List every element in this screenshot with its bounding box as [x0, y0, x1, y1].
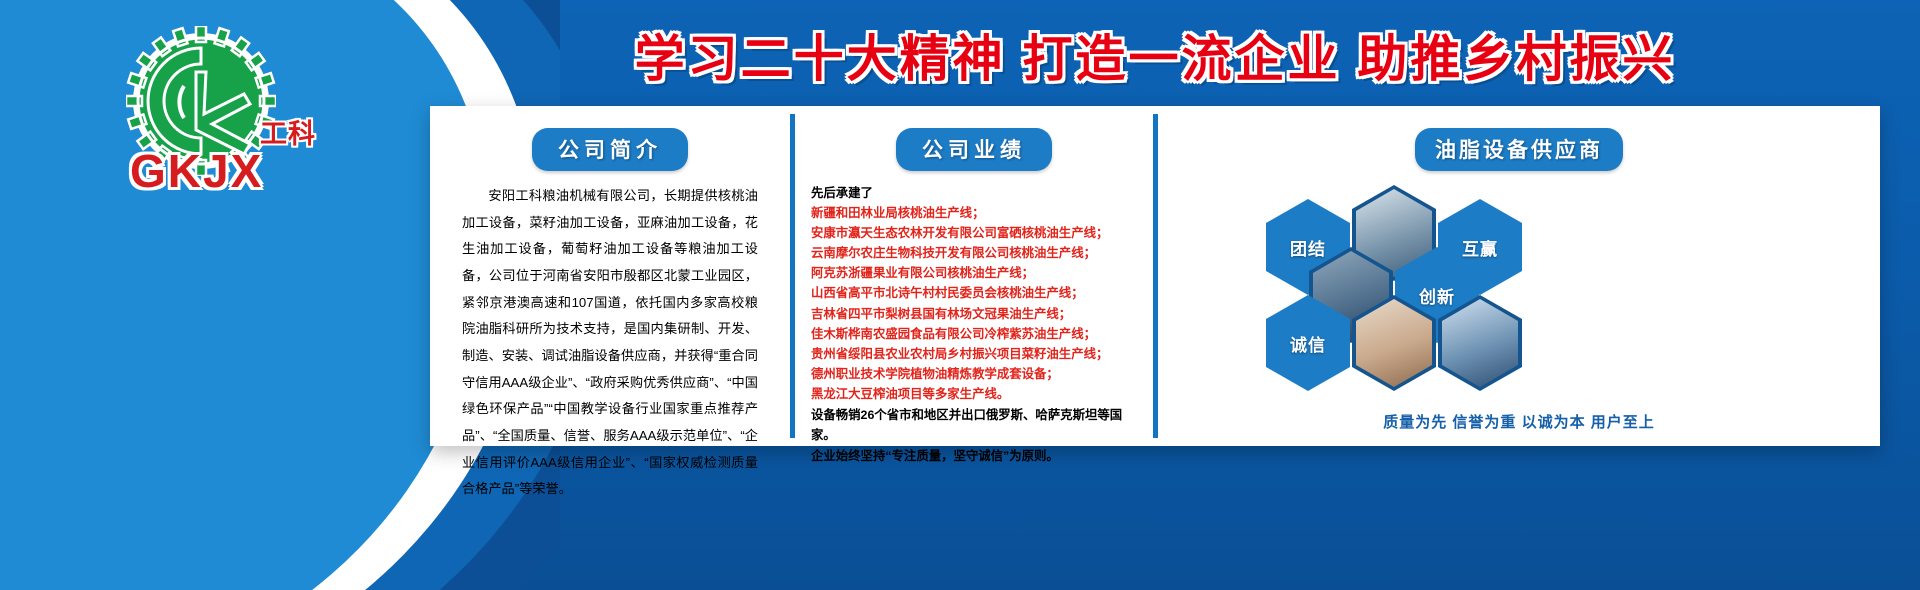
panel-title-supplier: 油脂设备供应商: [1415, 128, 1623, 171]
achievement-item: 佳木斯桦南农盛园食品有限公司冷榨紫苏油生产线；: [811, 324, 1137, 344]
achievements-intro: 先后承建了: [811, 183, 1137, 203]
poster-canvas: 工科 GKJX 学习二十大精神 打造一流企业 助推乡村振兴 公司简介 安阳工科粮…: [0, 0, 1920, 590]
company-logo: 工科 GKJX: [108, 26, 348, 206]
headline-text: 学习二十大精神 打造一流企业 助推乡村振兴: [635, 19, 1676, 91]
achievement-item: 贵州省绥阳县农业农村局乡村振兴项目菜籽油生产线；: [811, 344, 1137, 364]
achievement-item: 吉林省四平市梨树县国有林场文冠果油生产线；: [811, 304, 1137, 324]
achievement-item: 阿克苏浙疆果业有限公司核桃油生产线；: [811, 263, 1137, 283]
achievement-item: 新疆和田林业局核桃油生产线；: [811, 203, 1137, 223]
panel-supplier: 油脂设备供应商 团结互赢创新诚信 质量为先 信誉为重 以诚为本 用户至上: [1158, 106, 1880, 446]
logo-name-en: GKJX: [130, 144, 263, 198]
achievement-footer-line: 企业始终坚持“专注质量，坚守诚信”为原则。: [811, 446, 1137, 466]
achievement-item: 山西省高平市北诗午村村民委员会核桃油生产线；: [811, 283, 1137, 303]
achievement-footer-line: 设备畅销26个省市和地区并出口俄罗斯、哈萨克斯坦等国家。: [811, 405, 1137, 445]
hex-label: 团结: [1290, 235, 1326, 260]
panel-title-company-profile: 公司简介: [532, 128, 688, 171]
logo-name-cn: 工科: [260, 112, 316, 151]
hex-label: 创新: [1419, 283, 1455, 308]
company-profile-text: 安阳工科粮油机械有限公司，长期提供核桃油加工设备，菜籽油加工设备，亚麻油加工设备…: [462, 183, 758, 503]
panel-company-profile: 公司简介 安阳工科粮油机械有限公司，长期提供核桃油加工设备，菜籽油加工设备，亚麻…: [430, 106, 790, 446]
hex-inner: [1356, 299, 1432, 387]
poster-headline: 学习二十大精神 打造一流企业 助推乡村振兴: [430, 22, 1880, 88]
achievement-item: 德州职业技术学院植物油精炼教学成套设备；: [811, 364, 1137, 384]
panel-company-achievements: 公司业绩 先后承建了 新疆和田林业局核桃油生产线；安康市瀛天生态农林开发有限公司…: [795, 106, 1153, 446]
hex-cluster: 团结互赢创新诚信: [1174, 183, 1864, 398]
content-board: 公司简介 安阳工科粮油机械有限公司，长期提供核桃油加工设备，菜籽油加工设备，亚麻…: [430, 106, 1880, 446]
achievements-list: 新疆和田林业局核桃油生产线；安康市瀛天生态农林开发有限公司富硒核桃油生产线；云南…: [811, 203, 1137, 404]
hex-inner: [1442, 299, 1518, 387]
hex-label: 互赢: [1462, 235, 1498, 260]
achievement-item: 安康市瀛天生态农林开发有限公司富硒核桃油生产线；: [811, 223, 1137, 243]
panel-title-company-achievements: 公司业绩: [896, 128, 1052, 171]
achievement-item: 云南摩尔农庄生物科技开发有限公司核桃油生产线；: [811, 243, 1137, 263]
achievements-footer: 设备畅销26个省市和地区并出口俄罗斯、哈萨克斯坦等国家。企业始终坚持“专注质量，…: [811, 405, 1137, 466]
achievement-item: 黑龙江大豆榨油项目等多家生产线。: [811, 384, 1137, 404]
hex-label: 诚信: [1290, 331, 1326, 356]
company-profile-body: 安阳工科粮油机械有限公司，长期提供核桃油加工设备，菜籽油加工设备，亚麻油加工设备…: [448, 183, 772, 503]
supplier-slogan: 质量为先 信誉为重 以诚为本 用户至上: [1158, 411, 1880, 432]
